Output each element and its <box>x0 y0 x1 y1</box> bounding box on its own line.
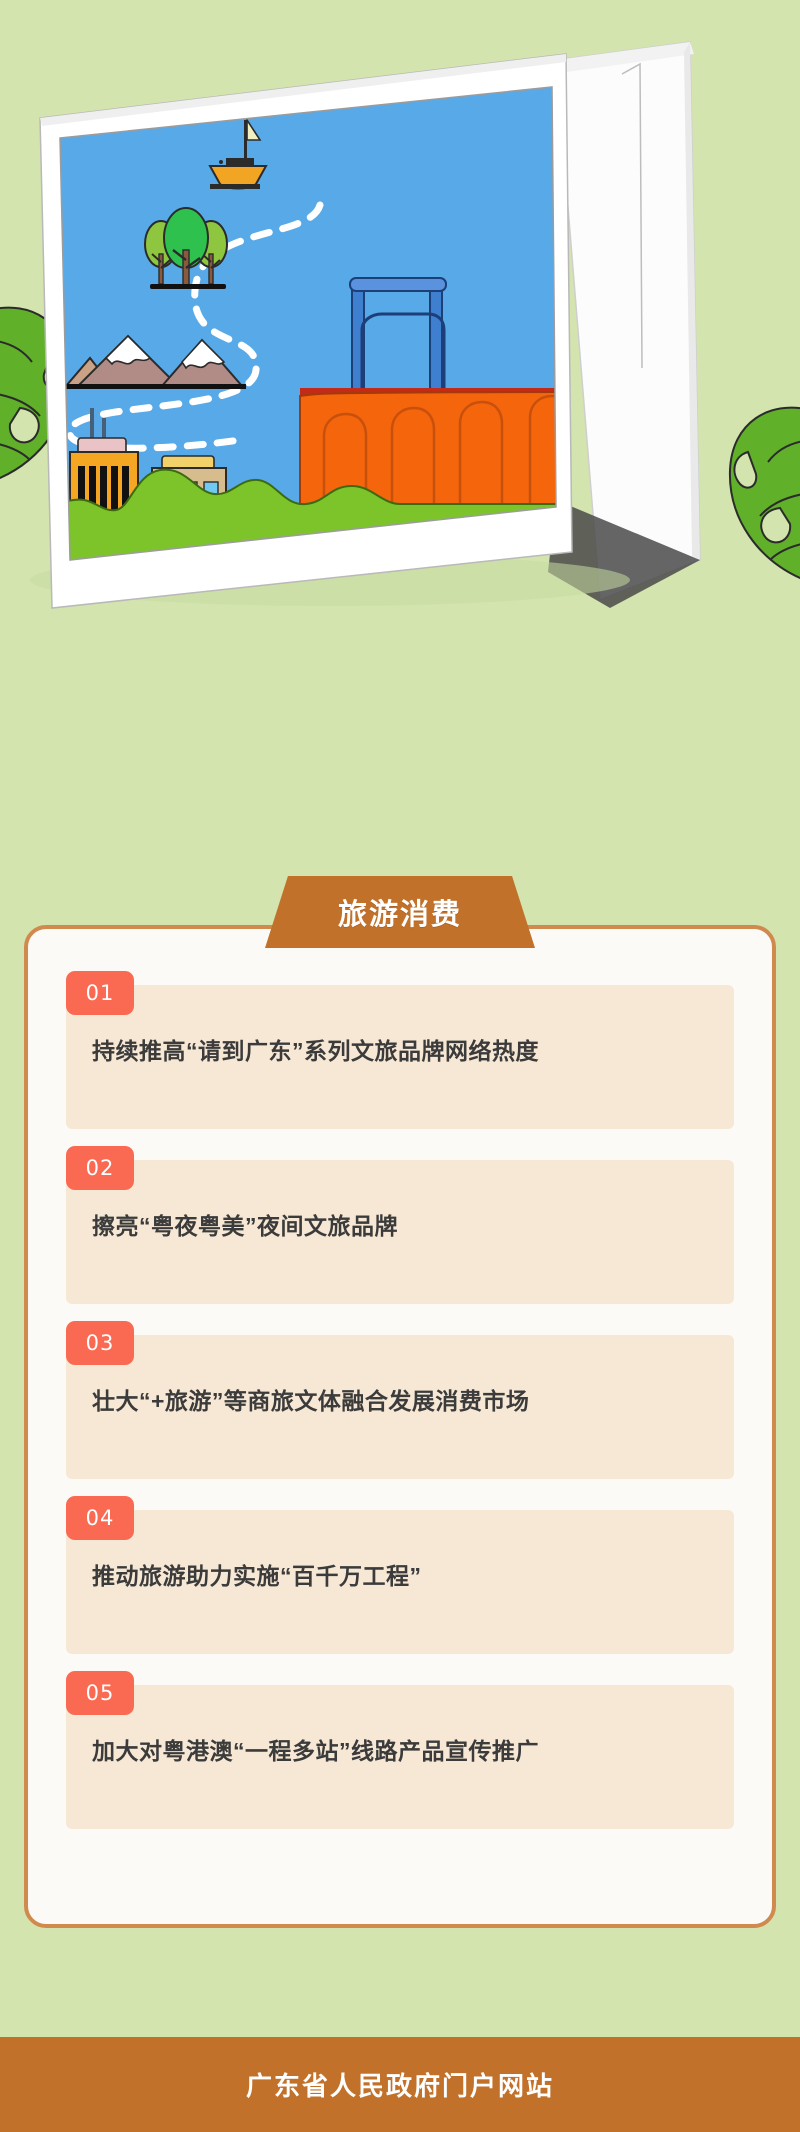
measures-card: 01 持续推高“请到广东”系列文旅品牌网络热度 02 擦亮“粤夜粤美”夜间文旅品… <box>24 925 776 1928</box>
item-number-badge: 02 <box>66 1146 134 1190</box>
list-item[interactable]: 05 加大对粤港澳“一程多站”线路产品宣传推广 <box>66 1685 734 1829</box>
item-number-badge: 03 <box>66 1321 134 1365</box>
item-text: 推动旅游助力实施“百千万工程” <box>92 1559 708 1594</box>
item-number-badge: 01 <box>66 971 134 1015</box>
site-footer: 广东省人民政府门户网站 <box>0 2037 800 2132</box>
item-text: 持续推高“请到广东”系列文旅品牌网络热度 <box>92 1034 708 1069</box>
hero-illustration <box>0 0 800 640</box>
item-text: 壮大“+旅游”等商旅文体融合发展消费市场 <box>92 1384 708 1419</box>
item-number-badge: 04 <box>66 1496 134 1540</box>
infographic-page: 旅游消费 01 持续推高“请到广东”系列文旅品牌网络热度 02 擦亮“粤夜粤美”… <box>0 0 800 2132</box>
list-item[interactable]: 04 推动旅游助力实施“百千万工程” <box>66 1510 734 1654</box>
list-item[interactable]: 02 擦亮“粤夜粤美”夜间文旅品牌 <box>66 1160 734 1304</box>
section-title-banner: 旅游消费 <box>265 876 535 948</box>
item-text: 加大对粤港澳“一程多站”线路产品宣传推广 <box>92 1734 708 1769</box>
list-item[interactable]: 03 壮大“+旅游”等商旅文体融合发展消费市场 <box>66 1335 734 1479</box>
item-text: 擦亮“粤夜粤美”夜间文旅品牌 <box>92 1209 708 1244</box>
item-number-badge: 05 <box>66 1671 134 1715</box>
footer-text: 广东省人民政府门户网站 <box>246 2066 554 2103</box>
section-title: 旅游消费 <box>265 876 535 948</box>
list-item[interactable]: 01 持续推高“请到广东”系列文旅品牌网络热度 <box>66 985 734 1129</box>
